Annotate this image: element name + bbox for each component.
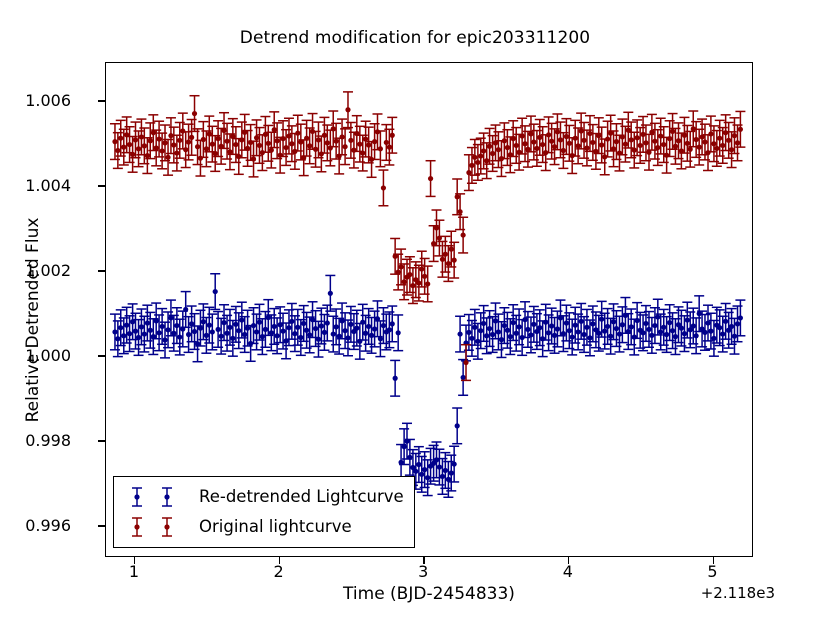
y-tick-label: 0.996 — [0, 516, 71, 535]
y-tick-label: 0.998 — [0, 431, 71, 450]
x-tick-label: 2 — [249, 562, 309, 581]
y-tick-mark — [98, 355, 105, 356]
y-tick-mark — [98, 440, 105, 441]
x-tick-label: 4 — [538, 562, 598, 581]
legend-item-redetrended: Re-detrended Lightcurve — [121, 482, 404, 512]
legend-label-original: Original lightcurve — [195, 519, 352, 536]
y-tick-label: 1.000 — [0, 346, 71, 365]
y-tick-mark — [98, 270, 105, 271]
x-tick-label: 5 — [683, 562, 743, 581]
legend: Re-detrended Lightcurve Original lightcu… — [113, 476, 415, 548]
x-tick-label: 1 — [104, 562, 164, 581]
x-tick-label: 3 — [393, 562, 453, 581]
legend-marker-redetrended — [121, 483, 195, 511]
y-tick-mark — [98, 185, 105, 186]
y-tick-label: 1.002 — [0, 261, 71, 280]
x-tick-mark — [713, 557, 714, 564]
page-title: Detrend modification for epic203311200 — [0, 28, 830, 48]
matplotlib-figure: Detrend modification for epic203311200 R… — [0, 0, 830, 623]
legend-label-redetrended: Re-detrended Lightcurve — [195, 489, 404, 506]
y-tick-mark — [98, 525, 105, 526]
y-tick-mark — [98, 100, 105, 101]
x-axis-offset-label: +2.118e3 — [645, 584, 775, 602]
x-tick-mark — [134, 557, 135, 564]
series-redetrended — [110, 274, 745, 497]
legend-marker-original — [121, 513, 195, 541]
legend-item-original: Original lightcurve — [121, 512, 404, 542]
x-tick-mark — [423, 557, 424, 564]
y-tick-label: 1.004 — [0, 176, 71, 195]
x-tick-mark — [568, 557, 569, 564]
x-tick-mark — [279, 557, 280, 564]
y-tick-label: 1.006 — [0, 91, 71, 110]
